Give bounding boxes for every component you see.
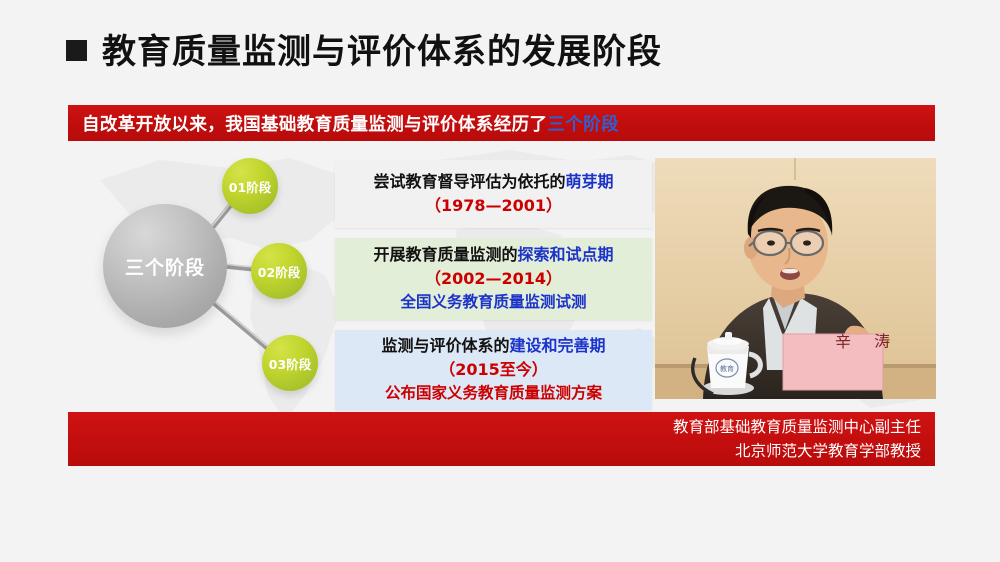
diagram-node-01[interactable]: 01阶段 — [222, 158, 278, 214]
speaker-photo: 教育 辛 涛 — [655, 158, 936, 399]
stage-card-1-period: （1978—2001） — [425, 194, 562, 218]
diagram-node-03[interactable]: 03阶段 — [262, 335, 318, 391]
svg-text:教育: 教育 — [720, 364, 734, 373]
stage-card-2-title-plain: 开展教育质量监测的 — [373, 245, 517, 264]
diagram-hub-label: 三个阶段 — [125, 253, 205, 280]
stage-card-3[interactable]: 监测与评价体系的建设和完善期 （2015至今） 公布国家义务教育质量监测方案 — [335, 330, 652, 410]
page-title-text: 教育质量监测与评价体系的发展阶段 — [102, 24, 662, 73]
speaker-credit-line-1: 教育部基础教育质量监测中心副主任 — [673, 415, 921, 439]
page-title: 教育质量监测与评价体系的发展阶段 — [66, 24, 662, 73]
stage-card-3-period: （2015至今） — [439, 358, 548, 382]
stage-card-1-title-emphasis: 萌芽期 — [566, 172, 614, 191]
speaker-photo-illustration: 教育 — [655, 158, 936, 399]
stage-card-2-period: （2002—2014） — [425, 267, 562, 291]
stage-card-3-title-plain: 监测与评价体系的 — [381, 336, 509, 355]
diagram-node-02-label: 02阶段 — [258, 262, 300, 281]
black-square-bullet-icon — [66, 40, 87, 61]
stage-card-1-title-plain: 尝试教育督导评估为依托的 — [373, 172, 565, 191]
intro-banner-text: 自改革开放以来，我国基础教育质量监测与评价体系经历了三个阶段 — [82, 111, 619, 136]
speaker-credit-footer: 教育部基础教育质量监测中心副主任 北京师范大学教育学部教授 — [68, 412, 935, 466]
intro-banner-prefix: 自改革开放以来，我国基础教育质量监测与评价体系经历了 — [82, 115, 547, 135]
diagram-hub-node[interactable]: 三个阶段 — [103, 204, 227, 328]
stage-card-3-title: 监测与评价体系的建设和完善期 — [381, 334, 605, 358]
stage-card-2-title: 开展教育质量监测的探索和试点期 — [373, 243, 613, 267]
stage-card-1[interactable]: 尝试教育督导评估为依托的萌芽期 （1978—2001） — [335, 160, 652, 228]
intro-banner: 自改革开放以来，我国基础教育质量监测与评价体系经历了三个阶段 — [68, 105, 935, 141]
diagram-node-02[interactable]: 02阶段 — [251, 243, 307, 299]
stage-card-2-title-emphasis: 探索和试点期 — [518, 245, 614, 264]
stage-card-2[interactable]: 开展教育质量监测的探索和试点期 （2002—2014） 全国义务教育质量监测试测 — [335, 238, 652, 320]
intro-banner-highlight: 三个阶段 — [547, 115, 619, 135]
stage-card-2-note: 全国义务教育质量监测试测 — [400, 291, 586, 314]
stage-card-3-note: 公布国家义务教育质量监测方案 — [385, 382, 602, 405]
stage-card-1-title: 尝试教育督导评估为依托的萌芽期 — [373, 170, 613, 194]
speaker-nameplate-text: 辛 涛 — [835, 327, 900, 352]
slide-canvas: 教育质量监测与评价体系的发展阶段 自改革开放以来，我国基础教育质量监测与评价体系… — [0, 0, 1000, 562]
diagram-node-03-label: 03阶段 — [269, 354, 311, 373]
speaker-credit-line-2: 北京师范大学教育学部教授 — [735, 439, 921, 463]
stage-card-3-title-emphasis: 建设和完善期 — [510, 336, 606, 355]
diagram-node-01-label: 01阶段 — [229, 177, 271, 196]
